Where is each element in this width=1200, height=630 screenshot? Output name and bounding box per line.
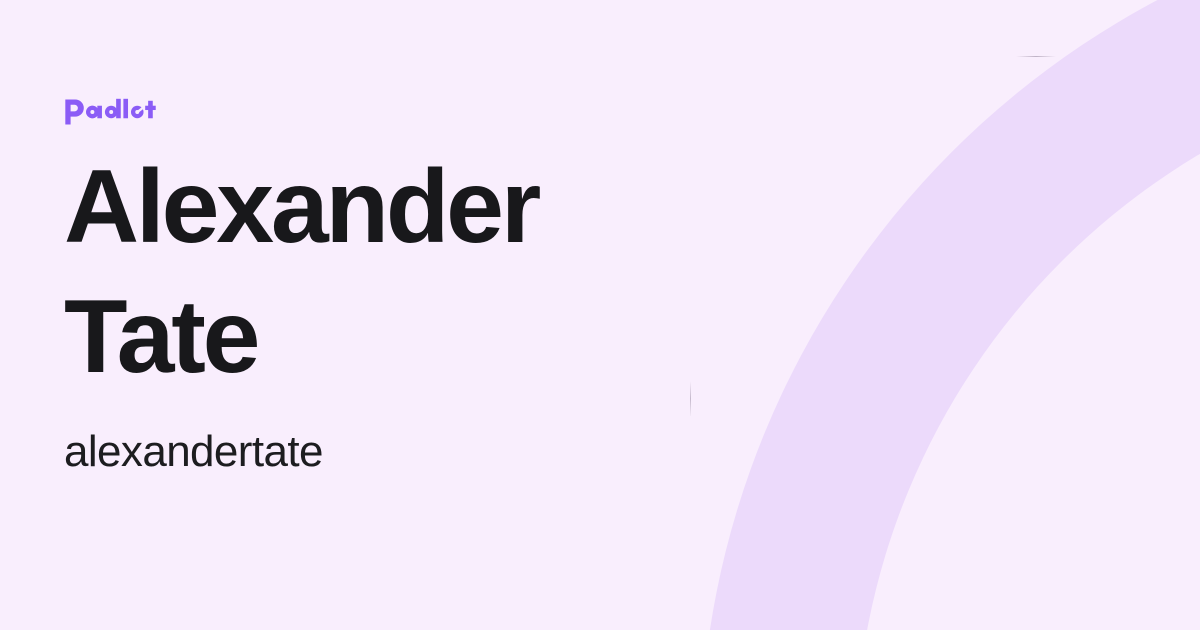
card-content: Padlet xyxy=(64,0,684,630)
padlet-wordmark-logo[interactable]: Padlet xyxy=(64,96,163,128)
arc-ring-band xyxy=(700,0,1200,630)
social-preview-card: Padlet xyxy=(0,0,1200,630)
page-title: Alexander Tate xyxy=(64,142,664,402)
profile-handle: alexandertate xyxy=(64,424,323,480)
hairline-artifact-vertical xyxy=(690,381,691,416)
hairline-artifact-horizontal xyxy=(1016,56,1056,57)
